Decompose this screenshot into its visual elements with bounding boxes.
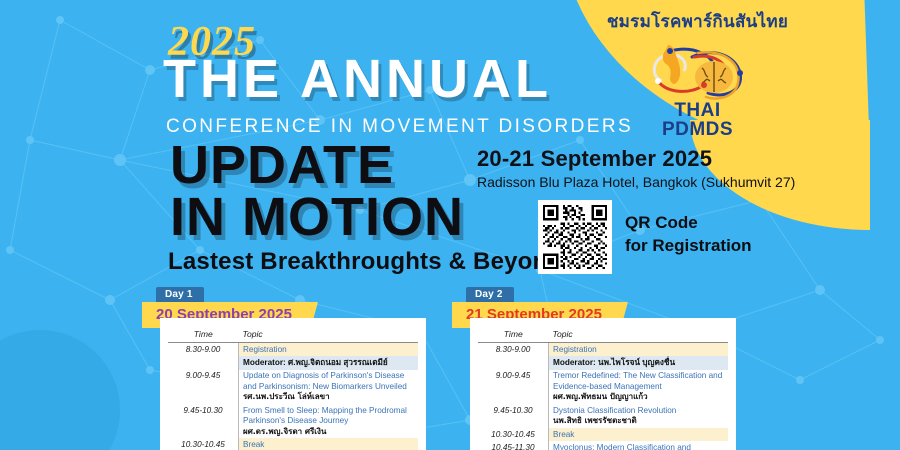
schedule-topic: Update on Diagnosis of Parkinson's Disea… (239, 370, 419, 404)
schedule-row: 8.30-9.00Registration (168, 343, 418, 357)
conference-venue: Radisson Blu Plaza Hotel, Bangkok (Sukhu… (477, 174, 795, 190)
schedule-topic: From Smell to Sleep: Mapping the Prodrom… (239, 404, 419, 438)
table-header-row: Time Topic (168, 328, 418, 343)
schedule-row: 8.30-9.00Registration (478, 343, 728, 357)
schedule-time: 10.30-10.45 (478, 428, 549, 441)
schedule-time: 8.30-9.00 (168, 343, 239, 357)
qr-label-line1: QR Code (625, 213, 698, 232)
schedule-row: Moderator: นพ.ไพโรจน์ บุญคงชื่น (478, 356, 728, 369)
column-header-time: Time (478, 328, 549, 343)
day2-schedule-table: Time Topic 8.30-9.00RegistrationModerato… (478, 328, 728, 450)
day2-table-body: 8.30-9.00RegistrationModerator: นพ.ไพโรจ… (478, 343, 728, 450)
schedule-speaker: ผศ.พญ.พัทธมน ปัญญาแก้ว (553, 392, 724, 402)
schedule-time: 8.30-9.00 (478, 343, 549, 357)
schedule-speaker: นพ.สิทธิ เพชรรัชตะชาติ (553, 416, 724, 426)
column-header-topic: Topic (549, 328, 729, 343)
schedule-time: 10.30-10.45 (168, 438, 239, 450)
organization-name-thai: ชมรมโรคพาร์กินสันไทย (590, 8, 805, 35)
schedule-topic: Myoclonus: Modern Classification and (549, 441, 729, 450)
day1-schedule-table: Time Topic 8.30-9.00RegistrationModerato… (168, 328, 418, 450)
table-header-row: Time Topic (478, 328, 728, 343)
schedule-row: 10.30-10.45Break (168, 438, 418, 450)
schedule-time (478, 356, 549, 369)
blue-circle-bottom-left (0, 330, 120, 450)
organization-abbrev: THAI PDMDS (590, 101, 805, 139)
schedule-topic: Moderator: ศ.พญ.จิตถนอม สุวรรณเตมีย์ (239, 356, 419, 369)
schedule-speaker: ผศ.ดร.พญ.จิรดา ศรีเงิน (243, 427, 414, 437)
brain-map-logo-icon (632, 37, 764, 105)
organization-abbrev-line2: PDMDS (662, 119, 733, 140)
schedule-row: Moderator: ศ.พญ.จิตถนอม สุวรรณเตมีย์ (168, 356, 418, 369)
schedule-row: 9.45-10.30Dystonia Classification Revolu… (478, 404, 728, 428)
day1-schedule-card: Time Topic 8.30-9.00RegistrationModerato… (160, 318, 426, 450)
schedule-topic: Moderator: นพ.ไพโรจน์ บุญคงชื่น (549, 356, 729, 369)
poster-headline-update: UPDATE (170, 140, 394, 192)
schedule-row: 10.45-11.30Myoclonus: Modern Classificat… (478, 441, 728, 450)
column-header-time: Time (168, 328, 239, 343)
schedule-time: 9.00-9.45 (478, 370, 549, 404)
schedule-time: 9.45-10.30 (168, 404, 239, 438)
poster-tagline: Lastest Breakthroughts & Beyond (168, 248, 562, 276)
day1-tag: Day 1 (156, 287, 204, 302)
schedule-topic: Tremor Redefined: The New Classification… (549, 370, 729, 404)
qr-code-label: QR Code for Registration (625, 212, 752, 258)
qr-code-icon (543, 205, 607, 269)
qr-label-line2: for Registration (625, 236, 752, 255)
schedule-topic: Registration (549, 343, 729, 357)
column-header-topic: Topic (239, 328, 419, 343)
schedule-topic: Registration (239, 343, 419, 357)
day1-table-body: 8.30-9.00RegistrationModerator: ศ.พญ.จิต… (168, 343, 418, 450)
day2-tag: Day 2 (466, 287, 514, 302)
schedule-time (168, 356, 239, 369)
schedule-topic: Dystonia Classification Revolutionนพ.สิท… (549, 404, 729, 428)
schedule-row: 9.45-10.30From Smell to Sleep: Mapping t… (168, 404, 418, 438)
schedule-row: 9.00-9.45Tremor Redefined: The New Class… (478, 370, 728, 404)
schedule-time: 9.45-10.30 (478, 404, 549, 428)
schedule-topic: Break (549, 428, 729, 441)
poster-headline-in-motion: IN MOTION (170, 192, 464, 244)
registration-qr-code[interactable] (538, 200, 612, 274)
schedule-time: 10.45-11.30 (478, 441, 549, 450)
conference-poster: 2025 THE ANNUAL CONFERENCE IN MOVEMENT D… (0, 0, 900, 450)
organization-logo: ชมรมโรคพาร์กินสันไทย (590, 8, 805, 139)
conference-date: 20-21 September 2025 (477, 146, 712, 172)
schedule-row: 9.00-9.45Update on Diagnosis of Parkinso… (168, 370, 418, 404)
schedule-topic: Break (239, 438, 419, 450)
schedule-row: 10.30-10.45Break (478, 428, 728, 441)
schedule-speaker: รศ.นพ.ประวีณ โล่ห์เลขา (243, 392, 414, 402)
schedule-time: 9.00-9.45 (168, 370, 239, 404)
poster-title-annual: THE ANNUAL (163, 52, 552, 106)
day2-schedule-card: Time Topic 8.30-9.00RegistrationModerato… (470, 318, 736, 450)
